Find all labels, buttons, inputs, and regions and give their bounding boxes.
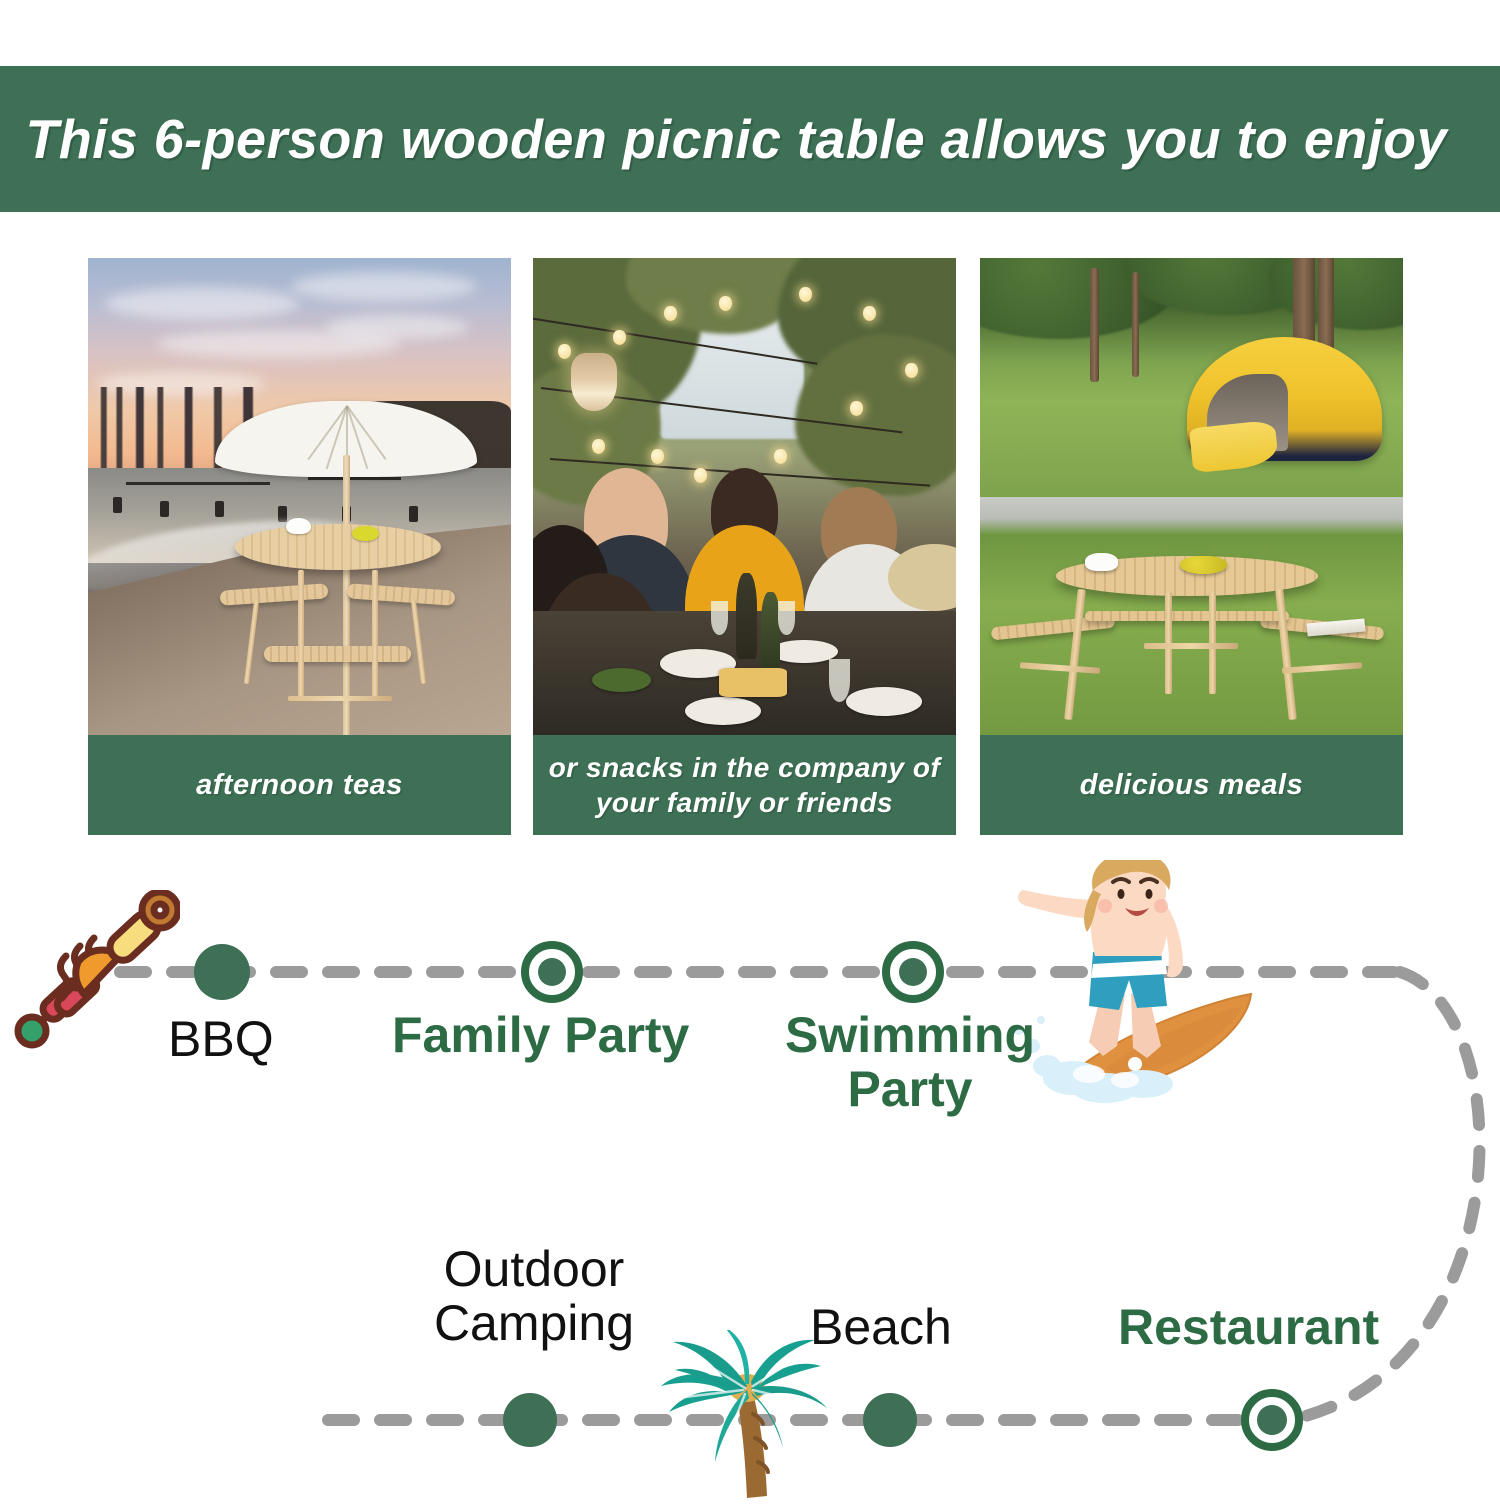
timeline-label-swimming-party[interactable]: Swimming Party	[776, 1008, 1044, 1116]
panel-beach-sunset: afternoon teas	[88, 258, 511, 835]
timeline-marker-bbq[interactable]	[194, 944, 250, 1000]
usage-scenarios-timeline: BBQ Family Party Swimming Party Outdoor …	[0, 860, 1500, 1500]
timeline-label-restaurant[interactable]: Restaurant	[1118, 1300, 1379, 1354]
photo-family-party	[533, 258, 956, 735]
tent-illustration	[1187, 337, 1382, 461]
timeline-label-bbq[interactable]: BBQ	[168, 1012, 274, 1066]
palm-tree-icon	[655, 1330, 835, 1500]
timeline-label-family-party[interactable]: Family Party	[392, 1008, 689, 1062]
panel-camping-meal: delicious meals	[980, 258, 1403, 835]
lantern-icon	[571, 353, 617, 411]
panel-family-party: or snacks in the company of your family …	[533, 258, 956, 835]
timeline-label-beach[interactable]: Beach	[810, 1300, 952, 1354]
photo-camping-meal	[980, 258, 1403, 735]
umbrella-illustration	[215, 401, 477, 477]
picnic-table-grass-illustration	[1005, 549, 1369, 730]
timeline-marker-family-party-core	[538, 958, 566, 986]
timeline-label-outdoor-camping[interactable]: Outdoor Camping	[420, 1242, 648, 1350]
bbq-skewer-icon	[10, 890, 180, 1050]
picnic-table-illustration	[215, 516, 460, 726]
panel-caption-camping-meal: delicious meals	[980, 735, 1403, 835]
timeline-marker-beach[interactable]	[863, 1393, 917, 1447]
caption-text: afternoon teas	[190, 767, 409, 803]
caption-text: or snacks in the company of your family …	[533, 750, 956, 820]
header-banner: This 6-person wooden picnic table allows…	[0, 66, 1500, 212]
panel-caption-family-party: or snacks in the company of your family …	[533, 735, 956, 835]
timeline-marker-outdoor-camping[interactable]	[503, 1393, 557, 1447]
caption-text: delicious meals	[1074, 767, 1310, 803]
feature-panels-row: afternoon teas	[88, 258, 1413, 835]
panel-caption-beach: afternoon teas	[88, 735, 511, 835]
page-title: This 6-person wooden picnic table allows…	[0, 107, 1447, 171]
timeline-marker-restaurant-core	[1257, 1405, 1287, 1435]
timeline-marker-swimming-party-core	[899, 958, 927, 986]
photo-beach-sunset	[88, 258, 511, 735]
